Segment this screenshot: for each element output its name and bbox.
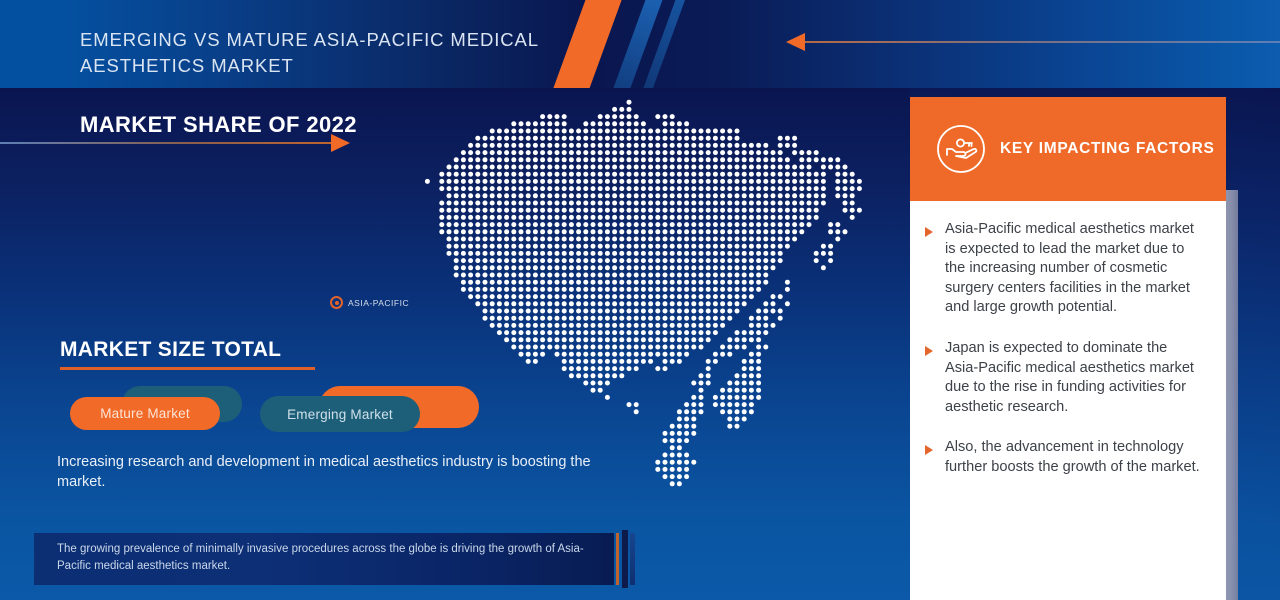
pill-emerging-market[interactable]: Emerging Market bbox=[260, 396, 420, 432]
key-factor-text: Also, the advancement in technology furt… bbox=[945, 438, 1203, 477]
market-size-note: Increasing research and development in m… bbox=[57, 452, 602, 492]
bottom-accent-bar-navy bbox=[622, 530, 628, 588]
market-size-underline bbox=[60, 367, 315, 370]
key-factor-text: Japan is expected to dominate the Asia-P… bbox=[945, 339, 1203, 417]
market-share-arrow bbox=[0, 134, 350, 154]
triangle-bullet-icon bbox=[925, 346, 935, 417]
bottom-accent-bar-orange bbox=[616, 533, 619, 585]
market-type-legend: Mature Market Emerging Market bbox=[60, 386, 460, 442]
location-target-icon bbox=[330, 296, 343, 309]
key-factor-item: Japan is expected to dominate the Asia-P… bbox=[925, 339, 1215, 417]
bottom-accent-bar-blue bbox=[630, 533, 635, 585]
key-factors-list: Asia-Pacific medical aesthetics market i… bbox=[925, 220, 1215, 499]
arrow-left-icon bbox=[786, 33, 805, 51]
triangle-bullet-icon bbox=[925, 445, 935, 477]
map-region-label: ASIA-PACIFIC bbox=[348, 298, 409, 308]
header-arrow-left bbox=[786, 30, 1280, 54]
infographic-canvas: EMERGING VS MATURE ASIA-PACIFIC MEDICAL … bbox=[0, 0, 1280, 600]
page-title: EMERGING VS MATURE ASIA-PACIFIC MEDICAL … bbox=[80, 27, 550, 79]
pill-mature-market[interactable]: Mature Market bbox=[70, 397, 220, 430]
key-factors-header: KEY IMPACTING FACTORS bbox=[910, 97, 1226, 201]
bottom-callout-text: The growing prevalence of minimally inva… bbox=[57, 541, 597, 575]
triangle-bullet-icon bbox=[925, 227, 935, 318]
hand-holding-key-icon bbox=[936, 124, 986, 174]
key-factor-item: Asia-Pacific medical aesthetics market i… bbox=[925, 220, 1215, 318]
arrow-left-line bbox=[804, 41, 1280, 43]
arrow-right-icon bbox=[331, 134, 350, 152]
market-size-title: MARKET SIZE TOTAL bbox=[60, 338, 281, 362]
key-factor-text: Asia-Pacific medical aesthetics market i… bbox=[945, 220, 1203, 318]
arrow-right-line bbox=[0, 142, 333, 144]
key-factors-title: KEY IMPACTING FACTORS bbox=[1000, 140, 1215, 158]
map-region-marker: ASIA-PACIFIC bbox=[330, 296, 409, 309]
key-factor-item: Also, the advancement in technology furt… bbox=[925, 438, 1215, 477]
dotted-asia-pacific-map bbox=[410, 92, 870, 504]
